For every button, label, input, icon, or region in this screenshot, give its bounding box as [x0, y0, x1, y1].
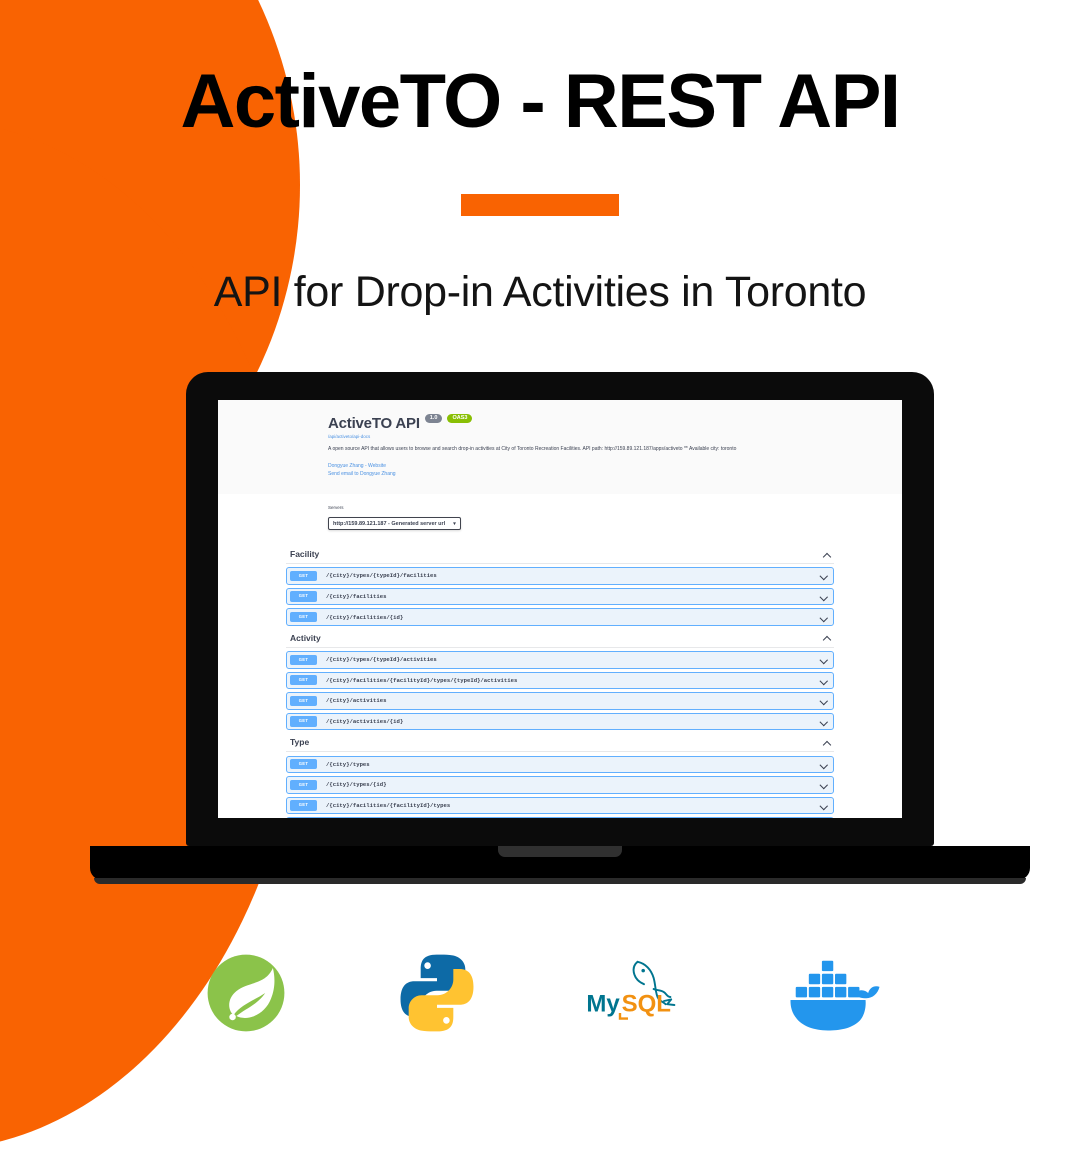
api-version-badge: 1.0	[425, 414, 443, 423]
operation-path: /{city}/facilities/{facilityId}/types	[326, 802, 819, 809]
http-method-badge: GET	[290, 800, 317, 810]
page-subtitle: API for Drop-in Activities in Toronto	[0, 216, 1080, 317]
http-method-badge: GET	[290, 716, 317, 726]
operation-path: /{city}/activities	[326, 697, 819, 704]
swagger-ui: ActiveTO API 1.0 OAS3 /api/activeto/api-…	[218, 400, 902, 818]
servers-block: Servers http://159.89.121.187 - Generate…	[218, 495, 902, 542]
chevron-down-icon[interactable]	[819, 592, 828, 601]
operation-row[interactable]: GET/{city}/facilities/{facilityId}/categ…	[286, 817, 834, 818]
docker-logo-icon	[787, 945, 883, 1041]
operation-row[interactable]: GET/{city}/types/{typeId}/activities	[286, 651, 834, 668]
chevron-down-icon[interactable]	[819, 655, 828, 664]
laptop-base-notch	[498, 846, 622, 857]
contact-website-link[interactable]: Dongyue Zhang - Website	[328, 462, 886, 470]
operation-path: /{city}/types	[326, 761, 819, 768]
http-method-badge: GET	[290, 571, 317, 581]
http-method-badge: GET	[290, 759, 317, 769]
operation-row[interactable]: GET/{city}/activities	[286, 692, 834, 709]
hero-section: ActiveTO - REST API API for Drop-in Acti…	[0, 0, 1080, 317]
operation-row[interactable]: GET/{city}/types/{typeId}/facilities	[286, 567, 834, 584]
api-title-row: ActiveTO API 1.0 OAS3	[328, 415, 886, 432]
operation-path: /{city}/types/{id}	[326, 781, 819, 788]
chevron-down-icon[interactable]	[819, 676, 828, 685]
http-method-badge: GET	[290, 696, 317, 706]
contact-email-link[interactable]: Send email to Dongyue Zhang	[328, 470, 886, 478]
chevron-down-icon[interactable]	[819, 760, 828, 769]
tag-section: ActivityGET/{city}/types/{typeId}/activi…	[286, 629, 834, 730]
oas-version-badge: OAS3	[447, 414, 472, 423]
laptop-base-shadow	[94, 878, 1026, 884]
chevron-up-icon[interactable]	[823, 550, 832, 559]
api-description: A open source API that allows users to b…	[328, 446, 886, 454]
operation-row[interactable]: GET/{city}/types	[286, 756, 834, 773]
operation-path: /{city}/types/{typeId}/facilities	[326, 572, 819, 579]
title-divider-rule	[461, 194, 619, 216]
svg-text:My: My	[586, 990, 620, 1017]
chevron-down-icon[interactable]	[819, 717, 828, 726]
swagger-info-header: ActiveTO API 1.0 OAS3 /api/activeto/api-…	[218, 400, 902, 495]
svg-text:SQL: SQL	[621, 990, 670, 1017]
operation-row[interactable]: GET/{city}/facilities/{facilityId}/types	[286, 797, 834, 814]
chevron-down-icon[interactable]	[819, 780, 828, 789]
mysql-logo-icon: My SQL	[580, 948, 692, 1038]
tag-name: Type	[290, 737, 309, 747]
servers-select[interactable]: http://159.89.121.187 - Generated server…	[328, 517, 461, 530]
python-logo-icon	[389, 945, 485, 1041]
operation-row[interactable]: GET/{city}/types/{id}	[286, 776, 834, 793]
operation-row[interactable]: GET/{city}/facilities/{id}	[286, 608, 834, 625]
chevron-down-icon[interactable]	[819, 801, 828, 810]
operation-path: /{city}/facilities/{id}	[326, 614, 819, 621]
tag-header[interactable]: Facility	[286, 545, 834, 564]
operation-path: /{city}/activities/{id}	[326, 718, 819, 725]
operation-row[interactable]: GET/{city}/facilities	[286, 588, 834, 605]
api-title: ActiveTO API	[328, 415, 420, 432]
servers-label: Servers	[328, 505, 886, 510]
servers-selected-value: http://159.89.121.187 - Generated server…	[333, 521, 445, 527]
operation-path: /{city}/facilities	[326, 593, 819, 600]
chevron-up-icon[interactable]	[823, 633, 832, 642]
http-method-badge: GET	[290, 780, 317, 790]
tag-section: TypeGET/{city}/typesGET/{city}/types/{id…	[286, 733, 834, 818]
http-method-badge: GET	[290, 675, 317, 685]
tech-stack-row: My SQL	[0, 945, 1080, 1041]
operation-row[interactable]: GET/{city}/facilities/{facilityId}/types…	[286, 672, 834, 689]
api-docs-link[interactable]: /api/activeto/api-docs	[328, 434, 886, 439]
operation-path: /{city}/facilities/{facilityId}/types/{t…	[326, 677, 819, 684]
api-contact-links: Dongyue Zhang - Website Send email to Do…	[328, 462, 886, 478]
tag-header[interactable]: Type	[286, 733, 834, 752]
chevron-down-icon[interactable]	[819, 613, 828, 622]
http-method-badge: GET	[290, 612, 317, 622]
chevron-up-icon[interactable]	[823, 738, 832, 747]
chevron-down-icon[interactable]	[819, 571, 828, 580]
tag-name: Activity	[290, 633, 321, 643]
operations-list: FacilityGET/{city}/types/{typeId}/facili…	[218, 541, 902, 818]
laptop-lid: ActiveTO API 1.0 OAS3 /api/activeto/api-…	[186, 372, 934, 846]
laptop-screen: ActiveTO API 1.0 OAS3 /api/activeto/api-…	[218, 400, 902, 818]
operation-path: /{city}/types/{typeId}/activities	[326, 656, 819, 663]
laptop-mockup: ActiveTO API 1.0 OAS3 /api/activeto/api-…	[186, 372, 934, 846]
http-method-badge: GET	[290, 655, 317, 665]
http-method-badge: GET	[290, 591, 317, 601]
operation-row[interactable]: GET/{city}/activities/{id}	[286, 713, 834, 730]
tag-section: FacilityGET/{city}/types/{typeId}/facili…	[286, 545, 834, 626]
tag-header[interactable]: Activity	[286, 629, 834, 648]
chevron-down-icon: ▾	[453, 521, 456, 527]
spring-logo-icon	[198, 945, 294, 1041]
page-title: ActiveTO - REST API	[0, 0, 1080, 142]
tag-name: Facility	[290, 549, 319, 559]
chevron-down-icon[interactable]	[819, 696, 828, 705]
